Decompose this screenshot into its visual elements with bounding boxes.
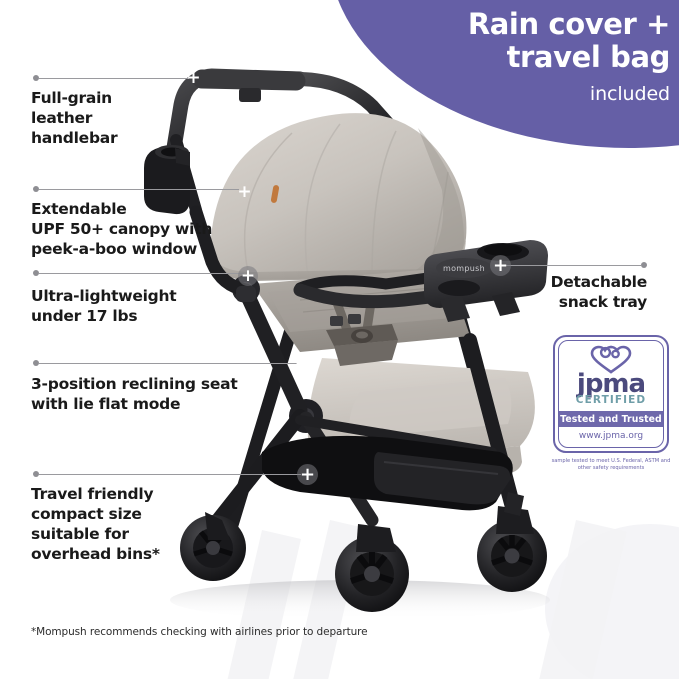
plus-marker-snack-tray[interactable]: + bbox=[490, 255, 511, 276]
svg-text:mompush: mompush bbox=[443, 264, 485, 273]
callout-recline-text: 3-position reclining seat with lie flat … bbox=[31, 374, 261, 414]
infographic-canvas: Rain cover + travel bag included bbox=[0, 0, 679, 679]
promo-banner-line1: Rain cover + bbox=[390, 8, 670, 41]
callout-snack-tray-text: Detachable snack tray bbox=[487, 272, 647, 312]
footnote-disclaimer: *Mompush recommends checking with airlin… bbox=[31, 626, 368, 638]
jpma-website-url: www.jpma.org bbox=[559, 431, 663, 441]
promo-banner-text: Rain cover + travel bag included bbox=[390, 8, 670, 105]
callout-leader-line bbox=[504, 265, 642, 266]
jpma-badge-inner: jpma CERTIFIED Tested and Trusted www.jp… bbox=[558, 340, 664, 448]
callout-leader-line bbox=[39, 273, 244, 274]
jpma-certified-label: CERTIFIED bbox=[559, 394, 663, 406]
jpma-certification-badge: jpma CERTIFIED Tested and Trusted www.jp… bbox=[553, 335, 669, 453]
plus-marker-recline[interactable]: + bbox=[293, 355, 310, 372]
callout-leader-line bbox=[39, 189, 239, 190]
plus-marker-canopy[interactable]: + bbox=[236, 184, 253, 201]
callout-leader-line bbox=[39, 474, 301, 475]
promo-banner-line2: travel bag bbox=[390, 41, 670, 74]
callout-lightweight-text: Ultra-lightweight under 17 lbs bbox=[31, 286, 231, 326]
callout-leader-line bbox=[39, 363, 297, 364]
promo-banner-line3: included bbox=[390, 83, 670, 105]
plus-marker-lightweight[interactable]: + bbox=[238, 266, 258, 286]
callout-travel-text: Travel friendly compact size suitable fo… bbox=[31, 484, 211, 565]
callout-canopy-text: Extendable UPF 50+ canopy with peek-a-bo… bbox=[31, 199, 231, 259]
jpma-tested-trusted-banner: Tested and Trusted bbox=[559, 411, 663, 427]
plus-marker-travel[interactable]: + bbox=[297, 464, 318, 485]
callout-leader-line bbox=[39, 78, 189, 79]
jpma-fine-print: sample tested to meet U.S. Federal, ASTM… bbox=[548, 458, 674, 473]
callout-handlebar-text: Full-grain leather handlebar bbox=[31, 88, 191, 148]
plus-marker-handlebar[interactable]: + bbox=[185, 70, 202, 87]
